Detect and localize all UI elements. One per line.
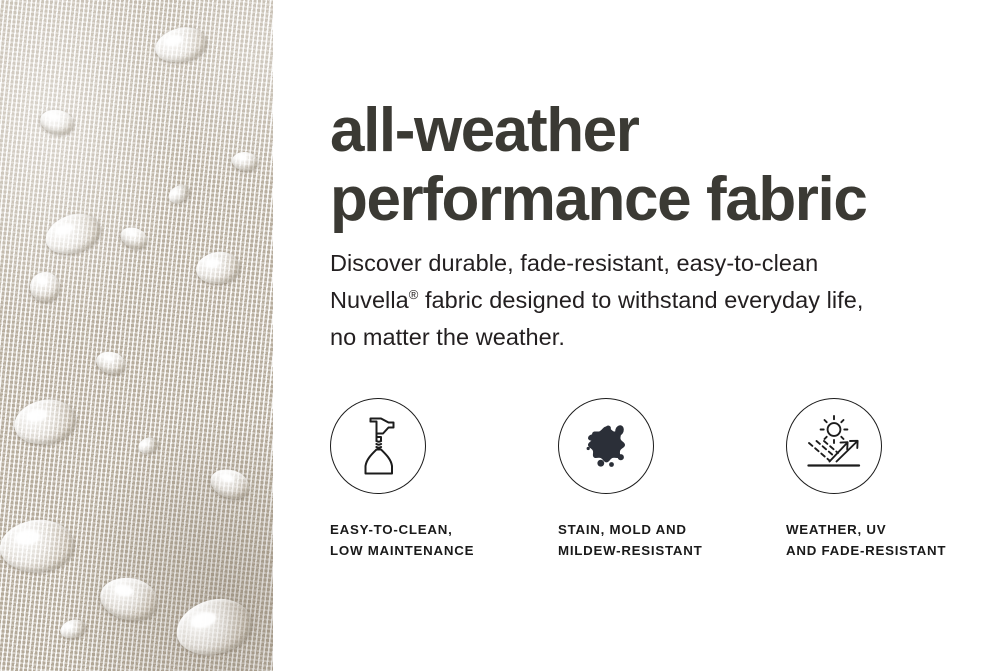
sun-uv-reflect-icon — [800, 415, 868, 477]
content-panel: all-weather performance fabric Discover … — [273, 0, 1005, 671]
feature-caption-line-1: WEATHER, UV — [786, 519, 946, 540]
feature-badge — [558, 398, 654, 494]
stain-splat-icon — [573, 415, 639, 477]
all-weather-fabric-banner: all-weather performance fabric Discover … — [0, 0, 1005, 671]
feature-caption: WEATHER, UV AND FADE-RESISTANT — [786, 519, 946, 561]
feature-stain-resistant: STAIN, MOLD AND MILDEW-RESISTANT — [558, 398, 786, 561]
water-droplet — [97, 573, 161, 624]
water-droplet — [170, 591, 258, 664]
headline-line-1: all-weather — [330, 96, 990, 165]
water-droplet — [94, 348, 129, 377]
feature-easy-to-clean: EASY-TO-CLEAN, LOW MAINTENANCE — [330, 398, 558, 561]
water-droplet — [231, 151, 259, 173]
subcopy-line-1: Discover durable, fade-resistant, easy-t… — [330, 245, 970, 282]
feature-caption-line-2: AND FADE-RESISTANT — [786, 540, 946, 561]
water-droplet — [194, 249, 242, 287]
spray-bottle-icon — [347, 413, 409, 479]
water-droplet — [10, 394, 80, 450]
fabric-photo-panel — [0, 0, 273, 671]
water-droplet — [117, 223, 150, 252]
water-droplet — [0, 516, 77, 575]
water-droplet — [40, 207, 106, 262]
water-droplet — [28, 270, 62, 304]
water-droplet — [38, 107, 76, 138]
water-droplet — [136, 435, 160, 457]
water-droplets-group — [0, 0, 273, 671]
registered-trademark-icon: ® — [409, 287, 419, 302]
headline-line-2: performance fabric — [330, 165, 990, 234]
feature-weather-uv-fade-resistant: WEATHER, UV AND FADE-RESISTANT — [786, 398, 1005, 561]
feature-caption-line-2: MILDEW-RESISTANT — [558, 540, 702, 561]
feature-badge — [786, 398, 882, 494]
water-droplet — [152, 22, 211, 68]
feature-caption-line-2: LOW MAINTENANCE — [330, 540, 474, 561]
feature-list: EASY-TO-CLEAN, LOW MAINTENANCE — [330, 398, 1005, 561]
feature-badge — [330, 398, 426, 494]
subcopy: Discover durable, fade-resistant, easy-t… — [330, 245, 970, 356]
water-droplet — [58, 616, 88, 641]
water-droplet — [165, 182, 192, 207]
page-title: all-weather performance fabric — [330, 96, 990, 234]
brand-name: Nuvella — [330, 287, 409, 313]
water-droplet — [207, 465, 254, 504]
feature-caption: STAIN, MOLD AND MILDEW-RESISTANT — [558, 519, 702, 561]
feature-caption-line-1: EASY-TO-CLEAN, — [330, 519, 474, 540]
feature-caption-line-1: STAIN, MOLD AND — [558, 519, 702, 540]
subcopy-line-2-rest: fabric designed to withstand everyday li… — [418, 287, 863, 313]
subcopy-line-3: no matter the weather. — [330, 319, 970, 356]
feature-caption: EASY-TO-CLEAN, LOW MAINTENANCE — [330, 519, 474, 561]
subcopy-line-2: Nuvella® fabric designed to withstand ev… — [330, 282, 970, 319]
